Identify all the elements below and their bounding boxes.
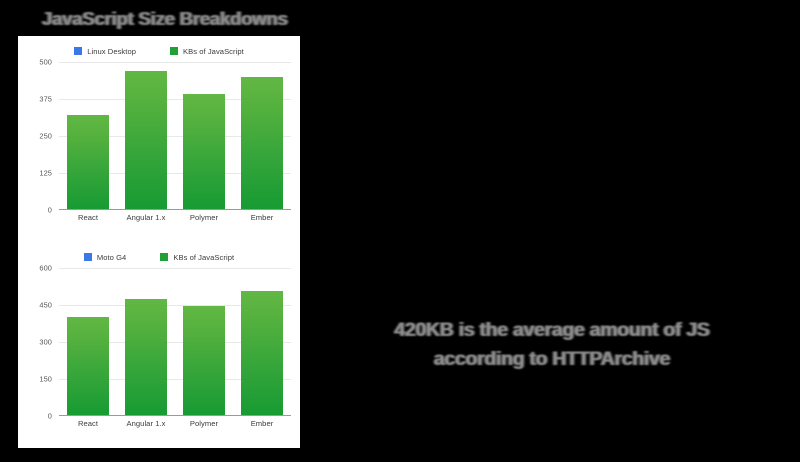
x-axis-line [59,415,291,417]
callout-line-1: 420KB is the average amount of JS [352,316,752,345]
y-axis-tick: 500 [18,58,52,67]
callout-line-2: according to HTTPArchive [352,345,752,374]
x-axis-label: React [59,213,117,222]
bar-slot [117,268,175,415]
bar-slot [59,268,117,415]
y-axis-tick: 125 [18,169,52,178]
legend-label-series-1: KBs of JavaScript [183,47,244,56]
bar [125,299,167,415]
bar-group [59,62,291,209]
bar [183,94,225,209]
chart-legend: Linux Desktop KBs of JavaScript [18,44,300,58]
bar-slot [175,268,233,415]
y-axis-tick: 375 [18,95,52,104]
legend-swatch-blue-icon [84,253,92,261]
x-axis-line [59,209,291,211]
x-axis-label: Polymer [175,419,233,428]
y-axis-tick: 300 [18,338,52,347]
legend-item-series-0: Linux Desktop [74,47,136,56]
x-axis-label: Polymer [175,213,233,222]
page-title: JavaScript Size Breakdowns [42,5,302,33]
y-axis-tick: 450 [18,301,52,310]
legend-label-series-1: KBs of JavaScript [173,253,234,262]
plot-area [59,62,291,210]
chart-legend: Moto G4 KBs of JavaScript [18,250,300,264]
bar-slot [117,62,175,209]
x-axis-label: Angular 1.x [117,419,175,428]
bar [125,71,167,209]
chart-moto-g4: Moto G4 KBs of JavaScript 600 450 300 15… [18,242,300,448]
legend-label-series-0: Linux Desktop [87,47,136,56]
callout-text: 420KB is the average amount of JS accord… [352,316,752,374]
plot: 500 375 250 125 0 React [18,62,300,222]
y-axis-tick: 600 [18,264,52,273]
bar-slot [233,268,291,415]
x-axis-label: Ember [233,213,291,222]
y-axis: 500 375 250 125 0 [18,62,58,210]
y-axis-tick: 250 [18,132,52,141]
bar-slot [175,62,233,209]
legend-swatch-blue-icon [74,47,82,55]
y-axis-tick: 150 [18,375,52,384]
x-axis: React Angular 1.x Polymer Ember [59,419,291,428]
y-axis: 600 450 300 150 0 [18,268,58,416]
legend-item-series-0: Moto G4 [84,253,126,262]
legend-item-series-1: KBs of JavaScript [160,253,234,262]
y-axis-tick: 0 [18,412,52,421]
bar-slot [233,62,291,209]
bar [241,77,283,208]
x-axis-label: React [59,419,117,428]
bar [241,291,283,414]
x-axis: React Angular 1.x Polymer Ember [59,213,291,222]
legend-swatch-green-icon [160,253,168,261]
bar [67,115,109,209]
bar-slot [59,62,117,209]
chart-linux-desktop: Linux Desktop KBs of JavaScript 500 375 … [18,36,300,242]
x-axis-label: Angular 1.x [117,213,175,222]
legend-swatch-green-icon [170,47,178,55]
legend-label-series-0: Moto G4 [97,253,126,262]
chart-panel: Linux Desktop KBs of JavaScript 500 375 … [18,36,300,448]
legend-item-series-1: KBs of JavaScript [170,47,244,56]
bar [67,317,109,415]
plot: 600 450 300 150 0 React [18,268,300,428]
x-axis-label: Ember [233,419,291,428]
bar [183,306,225,414]
plot-area [59,268,291,416]
bar-group [59,268,291,415]
y-axis-tick: 0 [18,206,52,215]
